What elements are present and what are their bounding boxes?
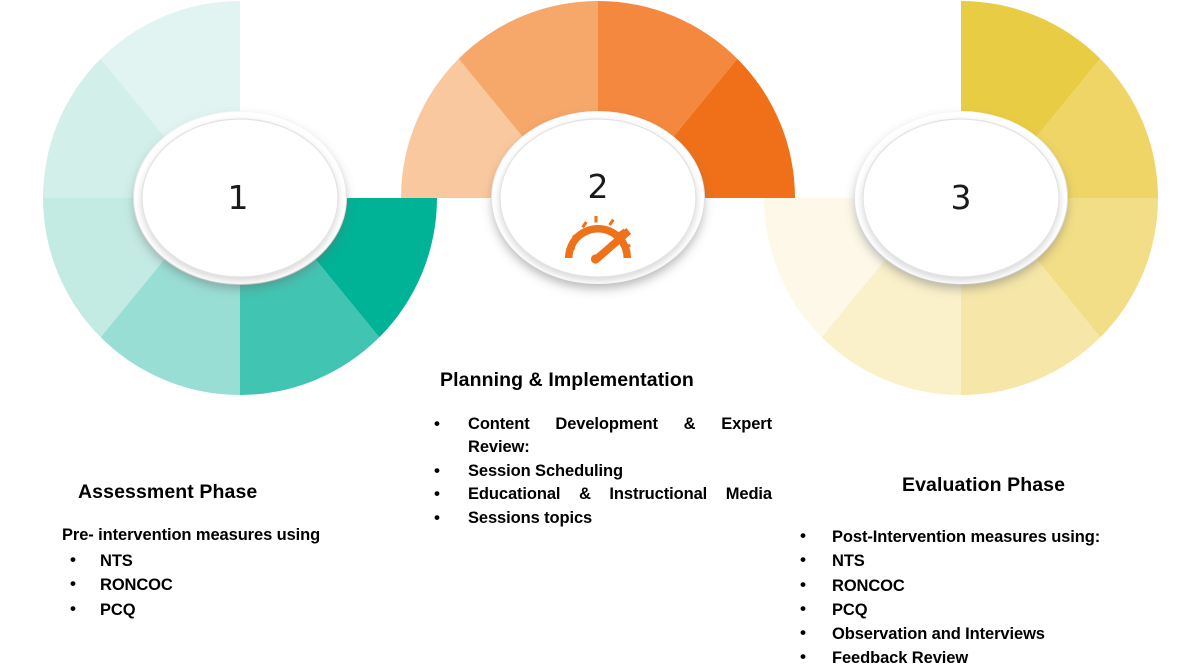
- phase-block-assessment: Assessment Phase Pre- intervention measu…: [62, 481, 412, 622]
- phase-block-evaluation: Evaluation Phase Post-Intervention measu…: [790, 474, 1170, 671]
- list-item: Educational & Instructional Media: [424, 483, 772, 506]
- evaluation-phase-title: Evaluation Phase: [902, 474, 1170, 497]
- planning-bullet-list: Content Development & Expert Review: Ses…: [424, 413, 772, 530]
- list-item: RONCOC: [62, 573, 412, 597]
- list-item: PCQ: [62, 598, 412, 622]
- list-item: Feedback Review: [790, 646, 1170, 670]
- assessment-bullet-list: NTS RONCOC PCQ: [62, 549, 412, 622]
- phase-block-planning: Planning & Implementation Content Develo…: [424, 369, 772, 530]
- list-item: Sessions topics: [424, 507, 772, 530]
- hub-inner-disc: [142, 119, 338, 277]
- hub-inner-disc: [863, 119, 1059, 277]
- list-item: NTS: [790, 549, 1170, 573]
- assessment-phase-title: Assessment Phase: [78, 481, 412, 504]
- list-item: RONCOC: [790, 574, 1170, 598]
- list-item: Session Scheduling: [424, 460, 772, 483]
- list-item: Observation and Interviews: [790, 622, 1170, 646]
- diagram-canvas: 1 2 3 Assessment Phase Pre- intervention…: [0, 0, 1200, 655]
- list-item: PCQ: [790, 598, 1170, 622]
- evaluation-bullet-list: Post-Intervention measures using: NTS RO…: [790, 525, 1170, 671]
- assessment-phase-lead: Pre- intervention measures using: [62, 526, 412, 545]
- list-item: Content Development & Expert Review:: [424, 413, 772, 460]
- list-item: Post-Intervention measures using:: [790, 525, 1170, 549]
- list-item: NTS: [62, 549, 412, 573]
- planning-phase-title: Planning & Implementation: [440, 369, 772, 392]
